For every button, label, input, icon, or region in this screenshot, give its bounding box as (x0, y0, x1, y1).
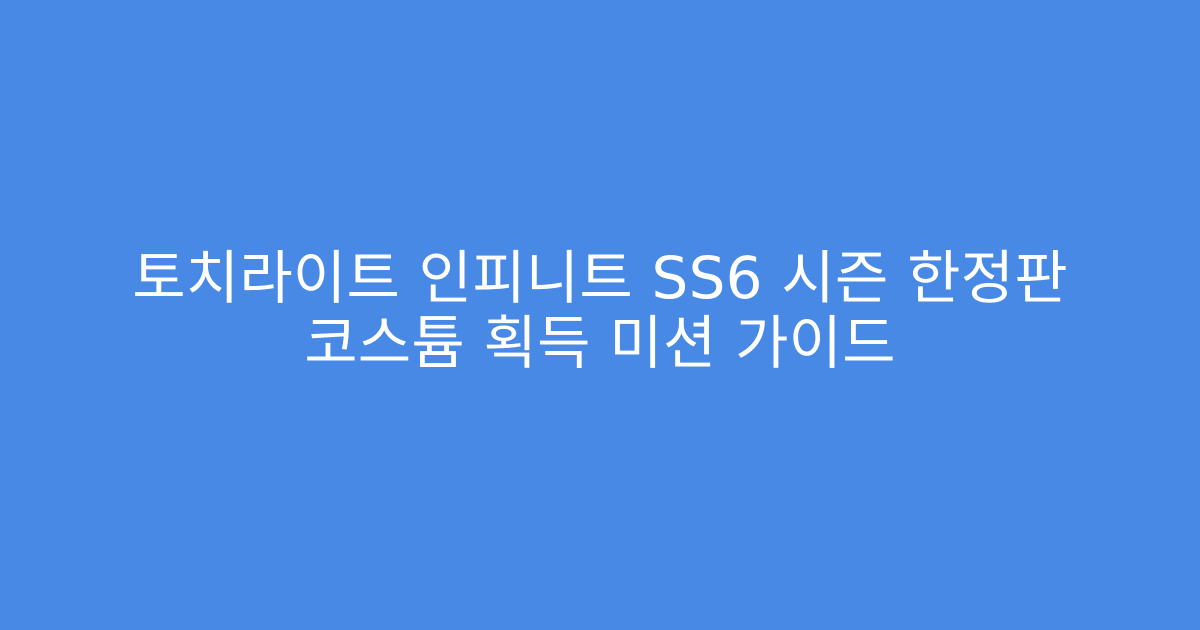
og-card: 토치라이트 인피니트 SS6 시즌 한정판 코스튬 획득 미션 가이드 (0, 0, 1200, 630)
page-title: 토치라이트 인피니트 SS6 시즌 한정판 코스튬 획득 미션 가이드 (100, 246, 1100, 376)
title-block: 토치라이트 인피니트 SS6 시즌 한정판 코스튬 획득 미션 가이드 (100, 246, 1100, 376)
